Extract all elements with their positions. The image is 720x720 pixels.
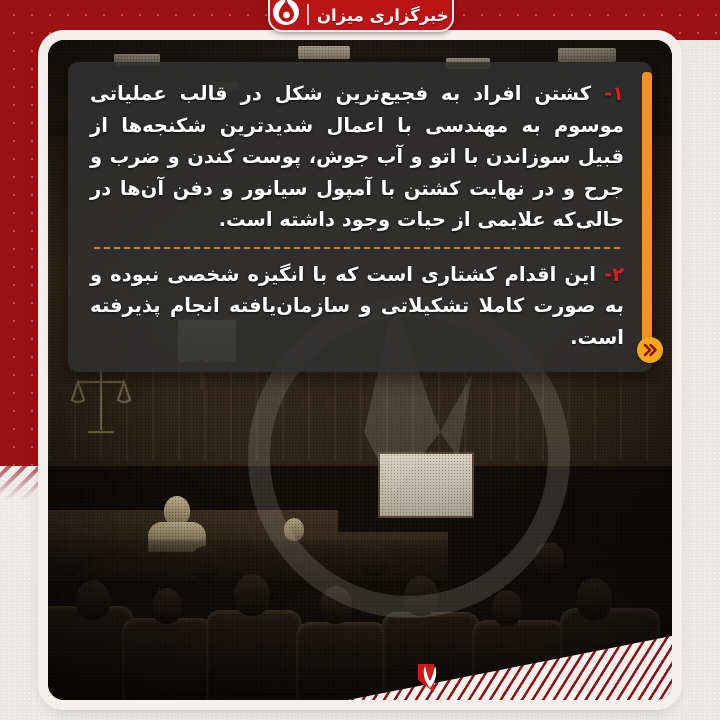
logo-divider [307,4,309,25]
next-slide-button[interactable] [637,337,663,363]
poster-canvas: خبرگزاری میزان ۱- کشتن افراد به فجیع‌تری… [0,0,720,720]
paragraph-1: ۱- کشتن افراد به فجیع‌ترین شکل در قالب ع… [90,78,624,236]
paragraph-1-number: ۱- [604,82,624,105]
brand-title: خبرگزاری میزان [317,8,449,27]
paragraph-2-number: ۲- [604,263,624,286]
double-chevron-right-icon [642,343,658,357]
mizan-droplet-logo-icon [273,0,299,25]
accent-bar [642,72,652,362]
paragraph-2: ۲- این اقدام کشتاری است که با انگیزه شخص… [90,259,624,354]
quote-text-panel: ۱- کشتن افراد به فجیع‌ترین شکل در قالب ع… [68,62,652,372]
brand-logo-plaque[interactable]: خبرگزاری میزان [268,0,454,32]
paragraph-2-body: این اقدام کشتاری است که با انگیزه شخصی ن… [90,263,624,349]
mizan-small-logo [416,662,444,696]
paragraph-1-body: کشتن افراد به فجیع‌ترین شکل در قالب عملی… [90,82,624,231]
paragraph-divider [94,247,620,249]
